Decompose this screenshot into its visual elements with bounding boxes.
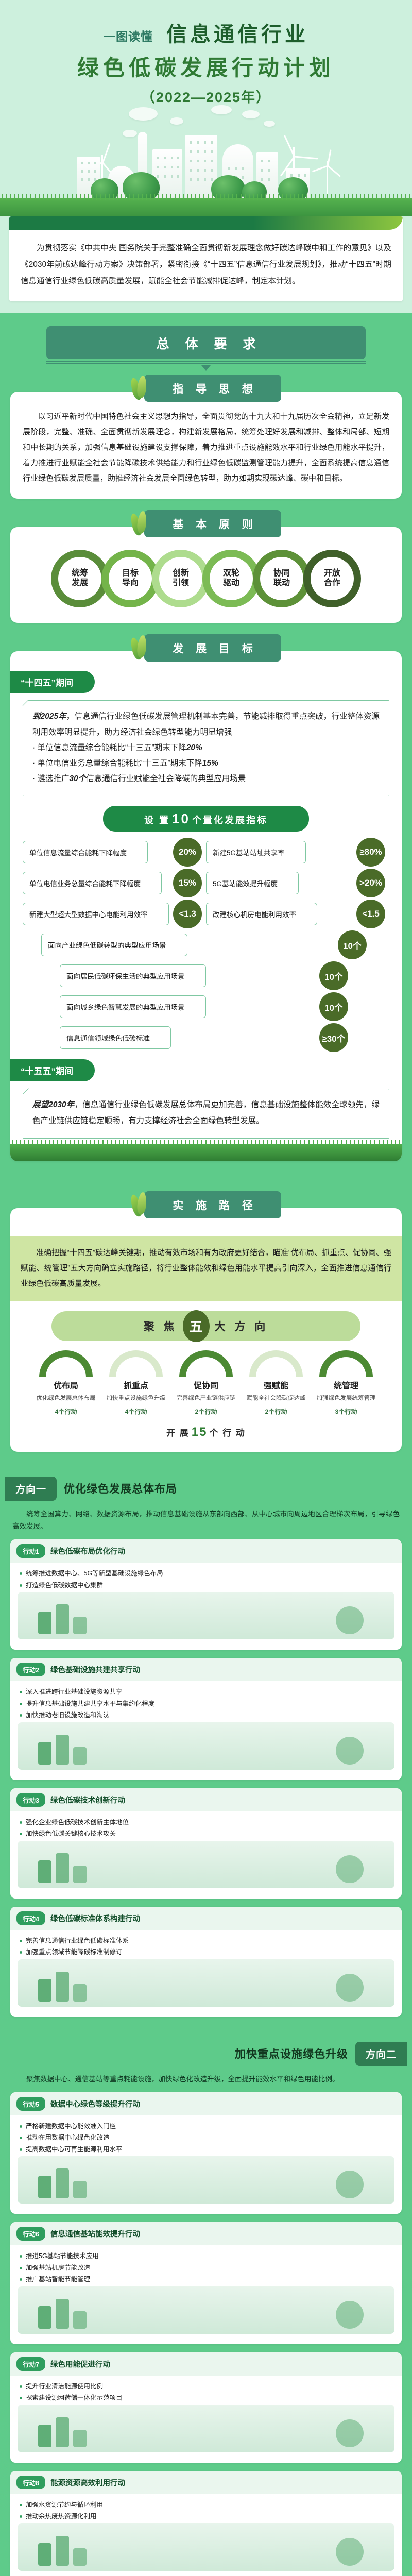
- action-item: 加强重点领域节能降碳标准制修订: [19, 1946, 393, 1958]
- kpi-banner-post: 个量化发展指标: [192, 815, 268, 825]
- direction-description: 聚焦数据中心、通信基站等重点耗能设施，加快绿色化改造升级，全面提升能效水平和绿色…: [10, 2073, 402, 2092]
- kpi-value: 10个: [338, 930, 367, 959]
- direction-action-count: 3个行动: [335, 1407, 357, 1416]
- action-card-header: 行动7绿色用能促进行动: [10, 2352, 402, 2376]
- direction-block-body: 统筹全国算力、网络、数据资源布局，推动信息基础设施从东部向西部、从中心城市向周边…: [10, 1508, 402, 2017]
- kpi-value: 15%: [173, 869, 202, 897]
- goal-bullet-value: 30个: [69, 774, 86, 783]
- action-card-header: 行动8能源资源高效利用行动: [10, 2471, 402, 2494]
- goal-bullet-value: 20%: [186, 743, 202, 752]
- goal-lead-14th: 到2025年，信息通信行业绿色低碳发展管理机制基本完善，节能减排取得重点突破，行…: [32, 709, 380, 740]
- principle-item: 统筹发展: [51, 550, 109, 607]
- action-illustration: [18, 2156, 394, 2204]
- goal-lead-text-2: ，信息通信行业绿色低碳发展总体布局更加完善，信息基础设施整体能效全球领先，绿色产…: [32, 1100, 380, 1125]
- cloud-icon: [170, 117, 183, 125]
- principle-line1: 目标: [122, 569, 139, 579]
- kpi-banner-pre: 设 置: [144, 815, 170, 825]
- kpi-row: 信息通信领域绿色低碳标准≥30个: [23, 1026, 389, 1049]
- action-item-list: 提升行业清洁能源使用比例探索建设源网荷储一体化示范项目: [10, 2376, 402, 2405]
- goals-card: “十四五”期间 到2025年，信息通信行业绿色低碳发展管理机制基本完善，节能减排…: [10, 651, 402, 1161]
- kpi-item: 改建核心机房电能利用效率<1.5: [206, 903, 389, 925]
- kpi-label: 信息通信领域绿色低碳标准: [60, 1026, 171, 1049]
- kpi-value: 10个: [319, 992, 348, 1021]
- kpi-value: <1.5: [356, 900, 385, 928]
- hero-title-row: 一图读懂 信息通信行业: [0, 18, 412, 47]
- principle-label: 双轮驱动: [210, 557, 253, 600]
- kpi-row: 单位电信业务总量综合能耗下降幅度15%5G基站能效提升幅度>20%: [23, 872, 389, 894]
- kpi-item: 新建5G基站站址共享率≥80%: [206, 841, 389, 863]
- kpi-value: 20%: [173, 838, 202, 867]
- kpi-label: 新建大型超大型数据中心电能利用效率: [23, 903, 169, 925]
- direction-description: 统筹全国算力、网络、数据资源布局，推动信息基础设施从东部向西部、从中心城市向周边…: [10, 1508, 402, 1540]
- direction-headline: 加快重点设施绿色升级: [228, 2046, 355, 2061]
- direction-action-count: 2个行动: [195, 1407, 217, 1416]
- action-card-header: 行动2绿色基础设施共建共享行动: [10, 1658, 402, 1681]
- direction-block-header: 加快重点设施绿色升级方向二: [0, 2042, 407, 2066]
- principle-label: 协同联动: [260, 557, 303, 600]
- action-item: 推动在用数据中心绿色化改造: [19, 2132, 393, 2144]
- direction-title: 统管理: [334, 1379, 358, 1391]
- period-label-14th: “十四五”期间: [10, 671, 95, 693]
- principle-label: 创新引领: [159, 557, 202, 600]
- direction-subtitle: 完善绿色产业链供应链: [175, 1394, 238, 1403]
- kpi-label: 5G基站能效提升幅度: [206, 872, 299, 894]
- action-illustration: [18, 1722, 394, 1770]
- section-banner-overall: 总 体 要 求: [46, 326, 366, 359]
- kpi-item: 信息通信领域绿色低碳标准≥30个: [23, 1026, 389, 1049]
- intro-card: 为贯彻落实《中共中央 国务院关于完整准确全面贯彻新发展理念做好碳达峰碳中和工作的…: [9, 216, 403, 301]
- guiding-card: 以习近平新时代中国特色社会主义思想为指导，全面贯彻党的十九大和十九届历次全会精神…: [10, 392, 402, 499]
- direction-tag: 方向一: [5, 1477, 57, 1501]
- total-pre: 开 展: [166, 1428, 190, 1438]
- action-title: 绿色低碳标准体系构建行动: [50, 1913, 140, 1924]
- kpi-label: 新建5G基站站址共享率: [206, 841, 306, 863]
- subsection-path-header: 实 施 路 径: [10, 1191, 402, 1218]
- infographic-page: 一图读懂 信息通信行业 绿色低碳发展行动计划 （2022—2025年）: [0, 0, 412, 2576]
- goal-bullet: · 遴选推广30个信息通信行业赋能全社会降碳的典型应用场景: [32, 771, 380, 787]
- kpi-item: 单位信息流量综合能耗下降幅度20%: [23, 841, 206, 863]
- direction-title: 强赋能: [264, 1379, 288, 1391]
- kpi-row: 面向城乡绿色智慧发展的典型应用场景10个: [23, 995, 389, 1018]
- direction-action-count: 4个行动: [125, 1407, 147, 1416]
- action-card[interactable]: 行动5数据中心绿色等级提升行动严格新建数据中心能效准入门槛推动在用数据中心绿色化…: [10, 2092, 402, 2214]
- action-item: 加快推动老旧设施改造和淘汰: [19, 1709, 393, 1721]
- action-item: 加快绿色低碳关键核心技术攻关: [19, 1828, 393, 1840]
- direction-pillar: 促协同完善绿色产业链供应链2个行动: [173, 1350, 239, 1416]
- goal-lead-15th: 展望2030年，信息通信行业绿色低碳发展总体布局更加完善，信息基础设施整体能效全…: [32, 1097, 380, 1128]
- action-item: 提升行业清洁能源使用比例: [19, 2381, 393, 2393]
- direction-pillar: 强赋能赋能全社会降碳促达峰2个行动: [243, 1350, 309, 1416]
- subsection-title-principles: 基 本 原 则: [144, 510, 281, 537]
- kpi-label: 面向城乡绿色智慧发展的典型应用场景: [60, 995, 206, 1018]
- path-card: 准确把握“十四五”碳达峰关键期，推动有效市场和有为政府更好结合，瞄准“优布局、抓…: [10, 1208, 402, 1452]
- action-number-badge: 行动4: [16, 1911, 45, 1925]
- cloud-icon: [123, 130, 137, 137]
- principle-item: 目标导向: [101, 550, 159, 607]
- direction-title: 促协同: [194, 1379, 218, 1391]
- focus-directions-pill: 聚 焦 五 大 方 向: [51, 1311, 360, 1341]
- direction-block-body: 聚焦数据中心、通信基站等重点耗能设施，加快绿色化改造升级，全面提升能效水平和绿色…: [10, 2073, 402, 2576]
- action-number-badge: 行动6: [16, 2227, 45, 2241]
- action-item-list: 统筹推进数据中心、5G等新型基础设施绿色布局打造绿色低碳数据中心集群: [10, 1563, 402, 1592]
- principle-line1: 双轮: [223, 569, 239, 579]
- principle-line2: 发展: [72, 579, 88, 588]
- action-item: 深入推进跨行业基础设施资源共享: [19, 1686, 393, 1698]
- direction-blocks-root: 方向一优化绿色发展总体布局统筹全国算力、网络、数据资源布局，推动信息基础设施从东…: [0, 1463, 412, 2576]
- direction-tag: 方向二: [355, 2042, 407, 2066]
- action-title: 数据中心绿色等级提升行动: [50, 2098, 140, 2109]
- kpi-item: 单位电信业务总量综合能耗下降幅度15%: [23, 872, 206, 894]
- grass-strip: [0, 198, 412, 216]
- total-number: 15: [192, 1425, 208, 1439]
- action-item: 打造绿色低碳数据中心集群: [19, 1580, 393, 1591]
- action-card-header: 行动1绿色低碳布局优化行动: [10, 1539, 402, 1563]
- subsection-title-guiding: 指 导 思 想: [144, 375, 281, 402]
- kpi-label: 单位信息流量综合能耗下降幅度: [23, 841, 148, 863]
- direction-action-count: 2个行动: [265, 1407, 287, 1416]
- hero-title-line2: 绿色低碳发展行动计划: [0, 50, 412, 82]
- intro-top-bar: [9, 216, 403, 230]
- action-number-badge: 行动3: [16, 1793, 45, 1807]
- action-card[interactable]: 行动2绿色基础设施共建共享行动深入推进跨行业基础设施资源共享提升信息基础设施共建…: [10, 1658, 402, 1780]
- action-number-badge: 行动5: [16, 2097, 45, 2111]
- action-item-list: 加强水资源节约与循环利用推动余热废热资源化利用: [10, 2494, 402, 2523]
- direction-pillar: 统管理加强绿色发展统筹管理3个行动: [313, 1350, 379, 1416]
- goal-bullets: · 单位信息流量综合能耗比“十三五”期末下降20%· 单位电信业务总量综合能耗比…: [32, 740, 380, 787]
- principle-line2: 导向: [122, 579, 139, 588]
- kpi-item: 新建大型超大型数据中心电能利用效率<1.3: [23, 903, 206, 925]
- action-illustration: [18, 2286, 394, 2334]
- action-card[interactable]: 行动3绿色低碳技术创新行动强化企业绿色低碳技术创新主体地位加快绿色低碳关键核心技…: [10, 1788, 402, 1899]
- direction-block: 方向一优化绿色发展总体布局统筹全国算力、网络、数据资源布局，推动信息基础设施从东…: [0, 1463, 412, 2028]
- action-illustration: [18, 1841, 394, 1888]
- subsection-title-path: 实 施 路 径: [144, 1191, 281, 1218]
- action-item: 加强基站机房节能改造: [19, 2262, 393, 2274]
- action-item-list: 完善信息通信行业绿色低碳标准体系加强重点领域节能降碳标准制修订: [10, 1930, 402, 1959]
- kpi-value: >20%: [356, 869, 385, 897]
- action-item: 强化企业绿色低碳技术创新主体地位: [19, 1817, 393, 1828]
- action-title: 能源资源高效利用行动: [50, 2477, 125, 2488]
- kpi-label: 面向居民低碳环保生活的典型应用场景: [60, 964, 206, 987]
- goal-bullet-value: 15%: [202, 759, 218, 768]
- action-item-list: 严格新建数据中心能效准入门槛推动在用数据中心绿色化改造提高数据中心可再生能源利用…: [10, 2115, 402, 2157]
- arc-shape: [39, 1350, 93, 1377]
- action-illustration: [18, 2405, 394, 2452]
- direction-subtitle: 优化绿色发展总体布局: [35, 1394, 98, 1403]
- goal-box-14th: 到2025年，信息通信行业绿色低碳发展管理机制基本完善，节能减排取得重点突破，行…: [23, 700, 389, 796]
- kpi-value: 10个: [319, 961, 348, 990]
- action-item: 提升信息基础设施共建共享水平与集约化程度: [19, 1698, 393, 1710]
- section-implementation-path: 实 施 路 径 准确把握“十四五”碳达峰关键期，推动有效市场和有为政府更好结合，…: [0, 1173, 412, 1452]
- goal-box-15th: 展望2030年，信息通信行业绿色低碳发展总体布局更加完善，信息基础设施整体能效全…: [23, 1089, 389, 1138]
- goal-lead-text: ，信息通信行业绿色低碳发展管理机制基本完善，节能减排取得重点突破，行业整体资源利…: [32, 712, 380, 736]
- goal-lead-bold: 到2025年: [32, 712, 66, 721]
- leaf-icon: [131, 634, 151, 661]
- action-card-header: 行动3绿色低碳技术创新行动: [10, 1788, 402, 1811]
- guiding-text: 以习近平新时代中国特色社会主义思想为指导，全面贯彻党的十九大和十九届历次全会精神…: [23, 409, 389, 486]
- action-item: 完善信息通信行业绿色低碳标准体系: [19, 1935, 393, 1947]
- kpi-grid: 单位信息流量综合能耗下降幅度20%新建5G基站站址共享率≥80%单位电信业务总量…: [23, 841, 389, 1057]
- cloud-icon: [211, 105, 232, 114]
- city-skyline-illustration: [0, 98, 412, 216]
- kpi-value: ≥80%: [356, 838, 385, 867]
- direction-title: 优布局: [54, 1379, 78, 1391]
- cloud-icon: [264, 121, 275, 127]
- direction-headline: 优化绿色发展总体布局: [57, 1481, 184, 1496]
- action-item-list: 推进5G基站节能技术应用加强基站机房节能改造推广基站智能节能管理: [10, 2245, 402, 2286]
- action-title: 绿色低碳布局优化行动: [50, 1546, 125, 1556]
- action-item: 探索建设源网荷储一体化示范项目: [19, 2392, 393, 2404]
- principle-line1: 创新: [173, 569, 189, 579]
- action-card[interactable]: 行动1绿色低碳布局优化行动统筹推进数据中心、5G等新型基础设施绿色布局打造绿色低…: [10, 1539, 402, 1650]
- principle-line2: 引领: [173, 579, 189, 588]
- card-grass-footer: [10, 1144, 402, 1161]
- goal-lead-bold-2: 展望2030年: [32, 1100, 74, 1109]
- action-item: 推广基站智能节能管理: [19, 2274, 393, 2285]
- arc-shape: [109, 1350, 163, 1377]
- focus-post: 大 方 向: [215, 1318, 269, 1334]
- action-card[interactable]: 行动7绿色用能促进行动提升行业清洁能源使用比例探索建设源网荷储一体化示范项目: [10, 2352, 402, 2463]
- action-title: 绿色低碳技术创新行动: [50, 1794, 125, 1805]
- direction-subtitle: 赋能全社会降碳促达峰: [245, 1394, 308, 1403]
- principle-line2: 驱动: [223, 579, 239, 588]
- direction-block: 加快重点设施绿色升级方向二聚焦数据中心、通信基站等重点耗能设施，加快绿色化改造升…: [0, 2028, 412, 2576]
- total-actions-line: 开 展15个 行 动: [23, 1425, 389, 1439]
- action-illustration: [18, 1959, 394, 2007]
- read-badge: 一图读懂: [104, 27, 153, 47]
- principle-line1: 协同: [273, 569, 290, 579]
- intro-paragraph: 为贯彻落实《中共中央 国务院关于完整准确全面贯彻新发展理念做好碳达峰碳中和工作的…: [9, 230, 403, 301]
- subsection-guiding-header: 指 导 思 想: [10, 375, 402, 402]
- action-title: 信息通信基站能效提升行动: [50, 2228, 140, 2239]
- cloud-icon: [242, 110, 260, 118]
- subsection-principles-header: 基 本 原 则: [10, 510, 402, 537]
- banner-rule: [46, 361, 366, 364]
- direction-action-count: 4个行动: [55, 1407, 77, 1416]
- action-item-list: 强化企业绿色低碳技术创新主体地位加快绿色低碳关键核心技术攻关: [10, 1811, 402, 1841]
- directions-row: 优布局优化绿色发展总体布局4个行动抓重点加快重点设施绿色升级4个行动促协同完善绿…: [23, 1350, 389, 1416]
- subsection-title-goals: 发 展 目 标: [144, 634, 281, 662]
- principles-row: 统筹发展目标导向创新引领双轮驱动协同联动开放合作: [23, 545, 389, 611]
- path-intro-text: 准确把握“十四五”碳达峰关键期，推动有效市场和有为政府更好结合，瞄准“优布局、抓…: [10, 1236, 402, 1301]
- total-post: 个 行 动: [209, 1428, 245, 1438]
- action-number-badge: 行动7: [16, 2357, 45, 2371]
- principle-line1: 统筹: [72, 569, 88, 579]
- focus-pre: 聚 焦: [144, 1318, 178, 1334]
- action-number-badge: 行动2: [16, 1663, 45, 1676]
- action-number-badge: 行动1: [16, 1544, 45, 1558]
- principles-card: 统筹发展目标导向创新引领双轮驱动协同联动开放合作: [10, 527, 402, 623]
- direction-block-header: 方向一优化绿色发展总体布局: [5, 1477, 412, 1501]
- direction-subtitle: 加快重点设施绿色升级: [105, 1394, 168, 1403]
- action-item: 推进5G基站节能技术应用: [19, 2250, 393, 2262]
- kpi-count-banner: 设 置10个量化发展指标: [103, 806, 309, 832]
- leaf-icon: [131, 510, 151, 537]
- kpi-value: ≥30个: [319, 1023, 348, 1052]
- principle-line1: 开放: [324, 569, 340, 579]
- arc-shape: [179, 1350, 233, 1377]
- direction-subtitle: 加强绿色发展统筹管理: [315, 1394, 378, 1403]
- main-body: 总 体 要 求 指 导 思 想 以习近平新时代中国特色社会主义思想为指导，全面贯…: [0, 313, 412, 2576]
- kpi-banner-number: 10: [172, 811, 190, 826]
- action-card[interactable]: 行动6信息通信基站能效提升行动推进5G基站节能技术应用加强基站机房节能改造推广基…: [10, 2222, 402, 2344]
- principle-label: 开放合作: [311, 557, 354, 600]
- principle-item: 创新引领: [152, 550, 210, 607]
- principle-line2: 联动: [273, 579, 290, 588]
- action-illustration: [18, 2523, 394, 2571]
- hero-title-line1: 信息通信行业: [166, 18, 308, 47]
- intro-section: 为贯彻落实《中共中央 国务院关于完整准确全面贯彻新发展理念做好碳达峰碳中和工作的…: [0, 216, 412, 313]
- direction-pillar: 优布局优化绿色发展总体布局4个行动: [33, 1350, 99, 1416]
- action-title: 绿色基础设施共建共享行动: [50, 1664, 140, 1675]
- action-card[interactable]: 行动4绿色低碳标准体系构建行动完善信息通信行业绿色低碳标准体系加强重点领域节能降…: [10, 1907, 402, 2017]
- action-item: 提高数据中心可再生能源利用水平: [19, 2144, 393, 2156]
- focus-number: 五: [183, 1310, 210, 1342]
- action-item-list: 深入推进跨行业基础设施资源共享提升信息基础设施共建共享水平与集约化程度加快推动老…: [10, 1681, 402, 1722]
- action-item: 严格新建数据中心能效准入门槛: [19, 2121, 393, 2132]
- section-overall-requirements: 总 体 要 求 指 导 思 想 以习近平新时代中国特色社会主义思想为指导，全面贯…: [0, 326, 412, 1161]
- goal-bullet: · 单位电信业务总量综合能耗比“十三五”期末下降15%: [32, 756, 380, 771]
- action-illustration: [18, 1592, 394, 1639]
- action-card[interactable]: 行动8能源资源高效利用行动加强水资源节约与循环利用推动余热废热资源化利用: [10, 2471, 402, 2576]
- action-card-header: 行动4绿色低碳标准体系构建行动: [10, 1907, 402, 1930]
- principle-label: 统筹发展: [58, 557, 101, 600]
- principle-item: 开放合作: [303, 550, 361, 607]
- kpi-label: 面向产业绿色低碳转型的典型应用场景: [41, 934, 187, 956]
- leaf-icon: [131, 1191, 151, 1218]
- principle-item: 协同联动: [253, 550, 311, 607]
- subsection-goals-header: 发 展 目 标: [10, 634, 402, 662]
- kpi-row: 面向产业绿色低碳转型的典型应用场景10个: [23, 934, 389, 956]
- action-card-header: 行动6信息通信基站能效提升行动: [10, 2222, 402, 2245]
- kpi-value: <1.3: [173, 900, 202, 928]
- principle-item: 双轮驱动: [202, 550, 260, 607]
- kpi-item: 面向产业绿色低碳转型的典型应用场景10个: [23, 934, 389, 956]
- arc-shape: [249, 1350, 303, 1377]
- action-card-header: 行动5数据中心绿色等级提升行动: [10, 2092, 402, 2115]
- kpi-item: 面向居民低碳环保生活的典型应用场景10个: [23, 964, 389, 987]
- principle-line2: 合作: [324, 579, 340, 588]
- kpi-row: 单位信息流量综合能耗下降幅度20%新建5G基站站址共享率≥80%: [23, 841, 389, 863]
- wind-turbine-icon: [315, 149, 339, 199]
- action-number-badge: 行动8: [16, 2476, 45, 2489]
- arc-shape: [319, 1350, 373, 1377]
- action-item: 推动余热废热资源化利用: [19, 2511, 393, 2522]
- kpi-item: 5G基站能效提升幅度>20%: [206, 872, 389, 894]
- kpi-label: 单位电信业务总量综合能耗下降幅度: [23, 872, 162, 894]
- action-title: 绿色用能促进行动: [50, 2359, 110, 2369]
- kpi-row: 新建大型超大型数据中心电能利用效率<1.3改建核心机房电能利用效率<1.5: [23, 903, 389, 925]
- hero-banner: 一图读懂 信息通信行业 绿色低碳发展行动计划 （2022—2025年）: [0, 0, 412, 216]
- cloud-icon: [129, 107, 158, 121]
- action-item: 加强水资源节约与循环利用: [19, 2499, 393, 2511]
- period-label-15th: “十五五”期间: [10, 1059, 95, 1081]
- kpi-item: 面向城乡绿色智慧发展的典型应用场景10个: [23, 995, 389, 1018]
- kpi-label: 改建核心机房电能利用效率: [206, 903, 317, 925]
- principle-label: 目标导向: [109, 557, 152, 600]
- kpi-row: 面向居民低碳环保生活的典型应用场景10个: [23, 964, 389, 987]
- goal-bullet: · 单位信息流量综合能耗比“十三五”期末下降20%: [32, 740, 380, 756]
- action-item: 统筹推进数据中心、5G等新型基础设施绿色布局: [19, 1568, 393, 1580]
- leaf-icon: [131, 375, 151, 401]
- direction-pillar: 抓重点加快重点设施绿色升级4个行动: [103, 1350, 169, 1416]
- direction-title: 抓重点: [124, 1379, 148, 1391]
